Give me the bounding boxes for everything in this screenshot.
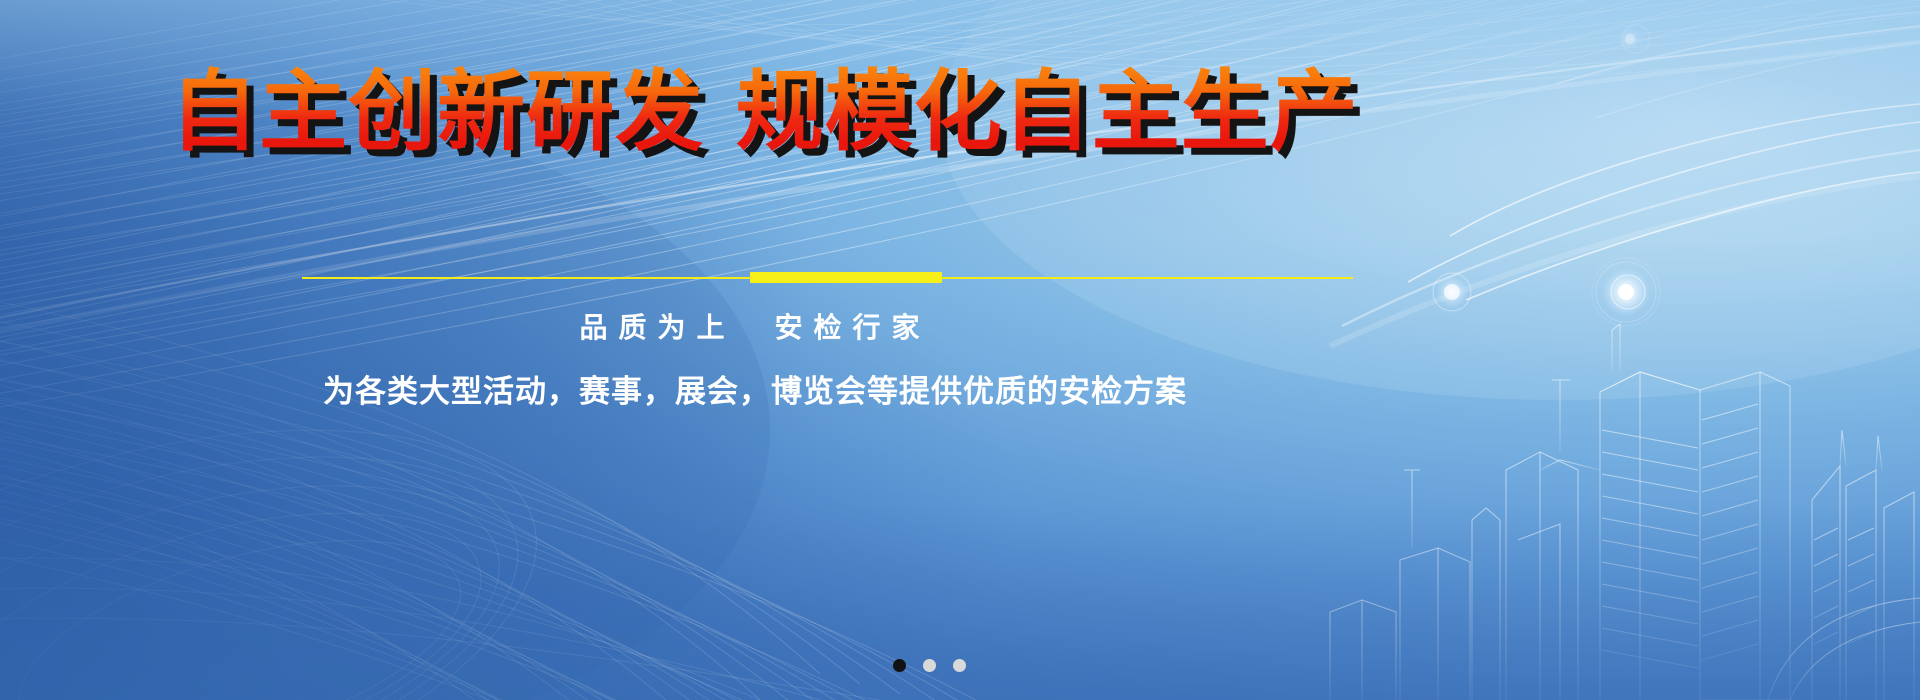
divider-accent-block <box>750 272 942 283</box>
subtitle-container: 品质为上 安检行家 为各类大型活动，赛事，展会，博览会等提供优质的安检方案 <box>0 306 1510 411</box>
carousel-dot-2[interactable] <box>923 659 936 672</box>
carousel-indicators <box>0 659 1858 672</box>
banner-headline: 自主创新研发 规模化自主生产 自主创新研发 规模化自主生产 <box>170 64 1359 159</box>
carousel-dot-1[interactable] <box>893 659 906 672</box>
headline-container: 自主创新研发 规模化自主生产 自主创新研发 规模化自主生产 <box>0 64 1529 159</box>
headline-text: 自主创新研发 规模化自主生产 <box>170 60 1359 163</box>
subtitle-description: 为各类大型活动，赛事，展会，博览会等提供优质的安检方案 <box>0 366 1510 411</box>
subtitle-primary: 品质为上 安检行家 <box>0 306 1510 346</box>
carousel-dot-3[interactable] <box>953 659 966 672</box>
hero-banner: 自主创新研发 规模化自主生产 自主创新研发 规模化自主生产 品质为上 安检行家 … <box>0 0 1920 700</box>
divider <box>302 276 1353 279</box>
